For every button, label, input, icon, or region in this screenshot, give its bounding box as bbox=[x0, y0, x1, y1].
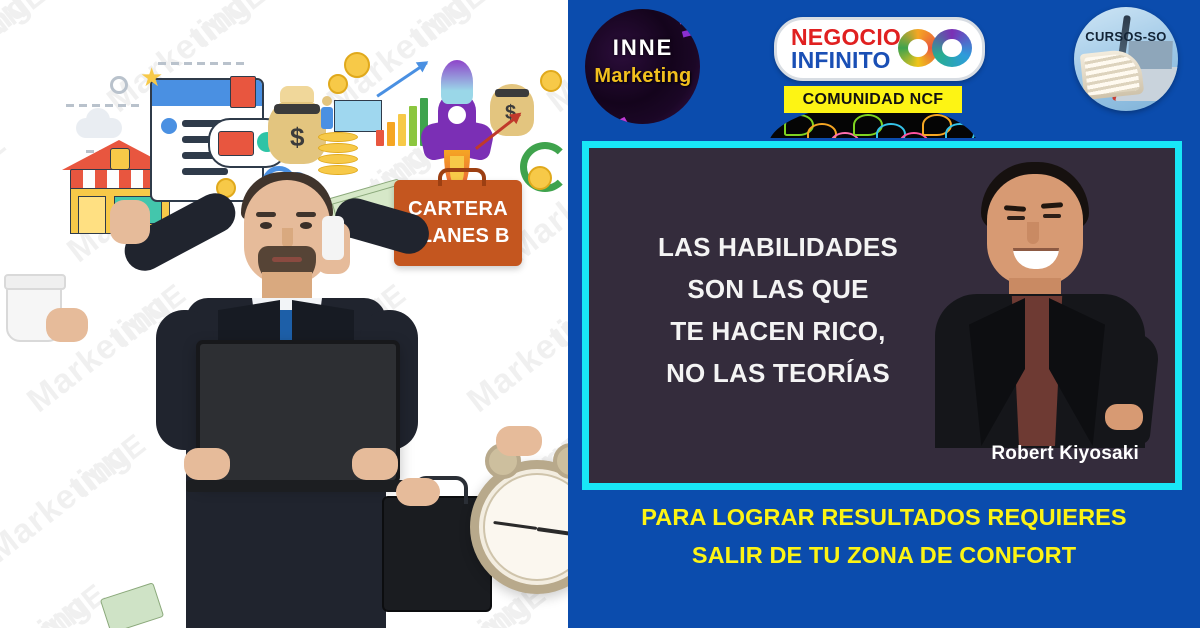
robert-kiyosaki-photo bbox=[909, 156, 1153, 448]
logo-cursos-so[interactable]: CURSOS-SO bbox=[1074, 7, 1178, 111]
promo-banner: MarketingINNEMarketingINNEMarketingINNEM… bbox=[0, 0, 1200, 628]
logo-negocio-line1: NEGOCIO bbox=[791, 26, 901, 49]
quote-line-3: TE HACEN RICO, bbox=[623, 310, 933, 352]
hand bbox=[396, 478, 440, 506]
quote-text-block: LAS HABILIDADES SON LAS QUE TE HACEN RIC… bbox=[623, 226, 933, 394]
watermark-text: Marketing bbox=[0, 0, 38, 121]
comunidad-ncf-label: COMUNIDAD NCF bbox=[803, 91, 944, 109]
nose bbox=[1027, 222, 1039, 244]
infinity-icon bbox=[898, 29, 972, 67]
coin-icon bbox=[328, 74, 348, 94]
hand bbox=[110, 200, 150, 244]
eye bbox=[300, 222, 312, 229]
quote-line-4: NO LAS TEORÍAS bbox=[623, 352, 933, 394]
watermark-text: INNE bbox=[188, 0, 275, 55]
hand bbox=[496, 426, 542, 456]
quote-line-2: SON LAS QUE bbox=[623, 268, 933, 310]
quote-card: LAS HABILIDADES SON LAS QUE TE HACEN RIC… bbox=[582, 141, 1182, 490]
multitasking-businessman-photo bbox=[0, 160, 568, 628]
coin-icon bbox=[540, 70, 562, 92]
logo-cursos-label: CURSOS-SO bbox=[1074, 29, 1178, 44]
gear-icon bbox=[110, 76, 128, 94]
logo-inne-line2: Marketing bbox=[591, 65, 695, 88]
quote-line-1: LAS HABILIDADES bbox=[623, 226, 933, 268]
nose bbox=[282, 228, 293, 248]
hand bbox=[184, 448, 230, 480]
chart-flag-icon bbox=[334, 100, 382, 132]
logo-inne-line1: INNE bbox=[605, 35, 681, 61]
eye bbox=[260, 222, 272, 229]
watermark-text: Marketing bbox=[540, 0, 568, 121]
hand bbox=[1105, 404, 1143, 430]
person-figure-icon bbox=[320, 96, 334, 134]
eyebrow bbox=[256, 212, 276, 217]
coin-icon bbox=[344, 52, 370, 78]
mouth bbox=[272, 257, 302, 262]
watermark-text: INNE bbox=[408, 0, 495, 55]
comunidad-ncf-banner: COMUNIDAD NCF bbox=[784, 86, 962, 113]
footer-message: PARA LOGRAR RESULTADOS REQUIERES SALIR D… bbox=[568, 498, 1200, 574]
cash-icon bbox=[100, 582, 164, 628]
left-image-panel: MarketingINNEMarketingINNEMarketingINNEM… bbox=[0, 0, 568, 628]
logo-negocio-infinito[interactable]: NEGOCIO INFINITO bbox=[774, 17, 985, 81]
logo-inne-marketing[interactable]: INNE Marketing bbox=[585, 9, 700, 124]
footer-line-1: PARA LOGRAR RESULTADOS REQUIERES bbox=[568, 498, 1200, 536]
eye bbox=[1007, 216, 1025, 220]
hand bbox=[352, 448, 398, 480]
dash-line bbox=[66, 104, 140, 107]
dash-line bbox=[158, 62, 248, 65]
tag-icon bbox=[230, 76, 256, 108]
rocket-icon bbox=[424, 60, 490, 172]
eyebrow bbox=[296, 212, 316, 217]
eye bbox=[1043, 214, 1061, 218]
money-bag-icon: $ bbox=[490, 84, 534, 136]
smartphone-icon bbox=[322, 216, 344, 260]
hand bbox=[46, 308, 88, 342]
right-content-panel: INNE Marketing NEGOCIO INFINITO CURSOS-S… bbox=[568, 0, 1200, 628]
quote-attribution: Robert Kiyosaki bbox=[991, 443, 1139, 465]
footer-line-2: SALIR DE TU ZONA DE CONFORT bbox=[568, 536, 1200, 574]
watermark-text: INNE bbox=[0, 0, 55, 55]
cloud-icon bbox=[76, 118, 122, 138]
logo-negocio-line2: INFINITO bbox=[791, 49, 901, 72]
